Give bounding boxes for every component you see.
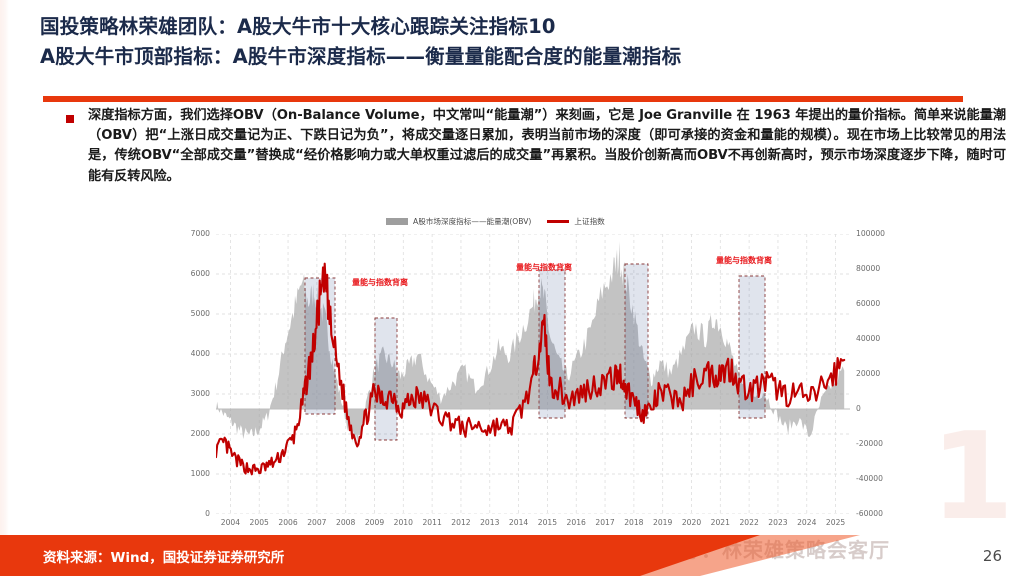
axis-tick-left: 7000 xyxy=(176,229,210,238)
source-note: 资料来源：Wind，国投证券证券研究所 xyxy=(43,546,284,566)
axis-tick-left: 1000 xyxy=(176,469,210,478)
chart-svg xyxy=(216,234,850,514)
axis-tick-left: 0 xyxy=(176,509,210,518)
axis-tick-left: 4000 xyxy=(176,349,210,358)
title-line-1: 国投策略林荣雄团队：A股大牛市十大核心跟踪关注指标10 xyxy=(40,12,1024,42)
title-line-2: A股大牛市顶部指标：A股牛市深度指标——衡量量能配合度的能量潮指标 xyxy=(40,42,1024,72)
axis-tick-right: 40000 xyxy=(856,334,902,343)
axis-tick-right: 20000 xyxy=(856,369,902,378)
title-divider-bar xyxy=(43,96,963,102)
chart-annotation-label: 量能与指数背离 xyxy=(516,262,572,273)
chart: A股市场深度指标——能量潮(OBV) 上证指数 0100020003000400… xyxy=(176,208,920,538)
body-block: 深度指标方面，我们选择OBV（On-Balance Volume，中文常叫“能量… xyxy=(44,106,1006,187)
axis-tick-right: 100000 xyxy=(856,229,902,238)
footer: 资料来源：Wind，国投证券证券研究所 26 xyxy=(0,535,1024,576)
page-number: 26 xyxy=(983,547,1002,565)
axis-tick-right: -60000 xyxy=(856,509,902,518)
decorative-numeral: 1 xyxy=(931,418,1015,538)
axis-tick-left: 3000 xyxy=(176,389,210,398)
legend-label-obv: A股市场深度指标——能量潮(OBV) xyxy=(413,216,531,227)
axis-tick-left: 2000 xyxy=(176,429,210,438)
legend-item-index: 上证指数 xyxy=(547,216,604,227)
chart-annotation-label: 量能与指数背离 xyxy=(352,277,408,288)
axis-tick-left: 6000 xyxy=(176,269,210,278)
legend-swatch-line xyxy=(547,220,569,223)
chart-annotation-label: 量能与指数背离 xyxy=(716,255,772,266)
axis-tick-right: 0 xyxy=(856,404,902,413)
axis-tick-right: 60000 xyxy=(856,299,902,308)
page-title: 国投策略林荣雄团队：A股大牛市十大核心跟踪关注指标10 A股大牛市顶部指标：A股… xyxy=(40,12,1024,72)
axis-tick-left: 5000 xyxy=(176,309,210,318)
legend-swatch-area xyxy=(386,218,408,225)
body-paragraph: 深度指标方面，我们选择OBV（On-Balance Volume，中文常叫“能量… xyxy=(88,106,1006,187)
legend-label-index: 上证指数 xyxy=(574,216,604,227)
chart-plot-area xyxy=(216,234,850,514)
chart-legend: A股市场深度指标——能量潮(OBV) 上证指数 xyxy=(386,214,716,228)
axis-tick-right: 80000 xyxy=(856,264,902,273)
axis-tick-x: 2025 xyxy=(819,518,853,527)
bullet-square-icon xyxy=(66,115,74,123)
slide: 国投策略林荣雄团队：A股大牛市十大核心跟踪关注指标10 A股大牛市顶部指标：A股… xyxy=(0,0,1024,576)
left-edge-strip xyxy=(0,0,9,576)
legend-item-obv: A股市场深度指标——能量潮(OBV) xyxy=(386,216,531,227)
axis-tick-right: -20000 xyxy=(856,439,902,448)
axis-tick-right: -40000 xyxy=(856,474,902,483)
